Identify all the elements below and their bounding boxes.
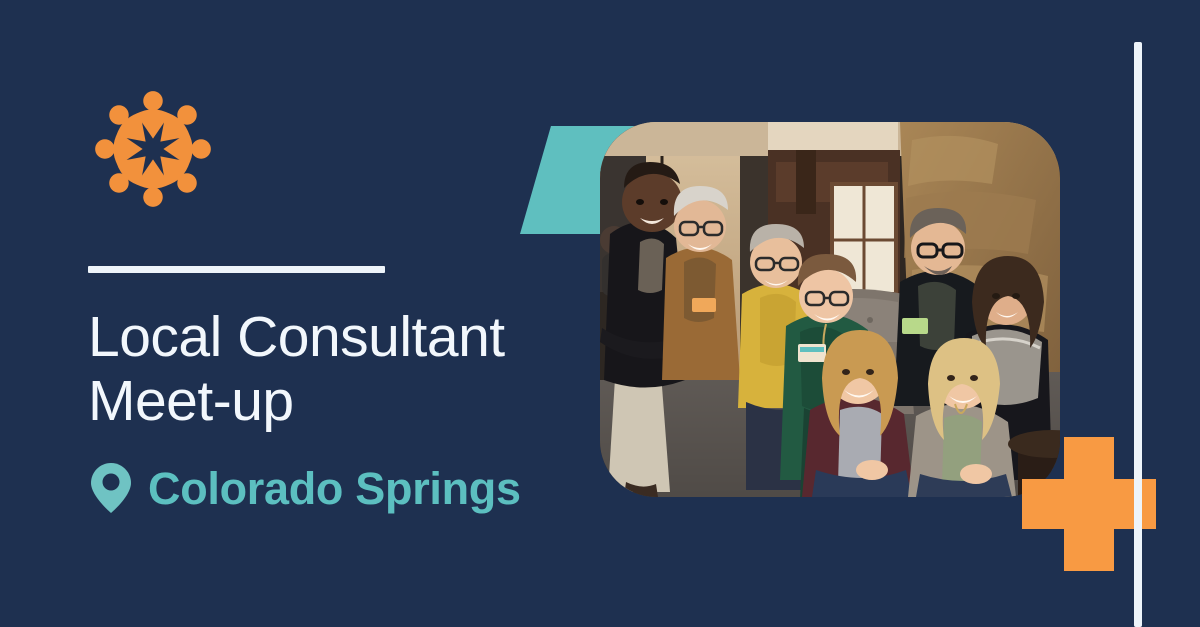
content-column: Local Consultant Meet-up Colorado Spring… xyxy=(88,84,558,554)
event-banner: Local Consultant Meet-up Colorado Spring… xyxy=(0,0,1200,627)
title-divider-rule xyxy=(88,266,385,273)
location-label: Colorado Springs xyxy=(148,466,521,511)
page-title: Local Consultant Meet-up xyxy=(88,306,568,434)
group-photo-illustration xyxy=(600,122,1060,497)
map-pin-icon xyxy=(90,462,132,514)
people-circle-star-logo-icon xyxy=(88,84,218,214)
group-photo xyxy=(600,122,1060,497)
location-row: Colorado Springs xyxy=(90,462,521,514)
people-circle-star-logo xyxy=(88,84,218,214)
vertical-rule-decoration xyxy=(1134,42,1142,627)
